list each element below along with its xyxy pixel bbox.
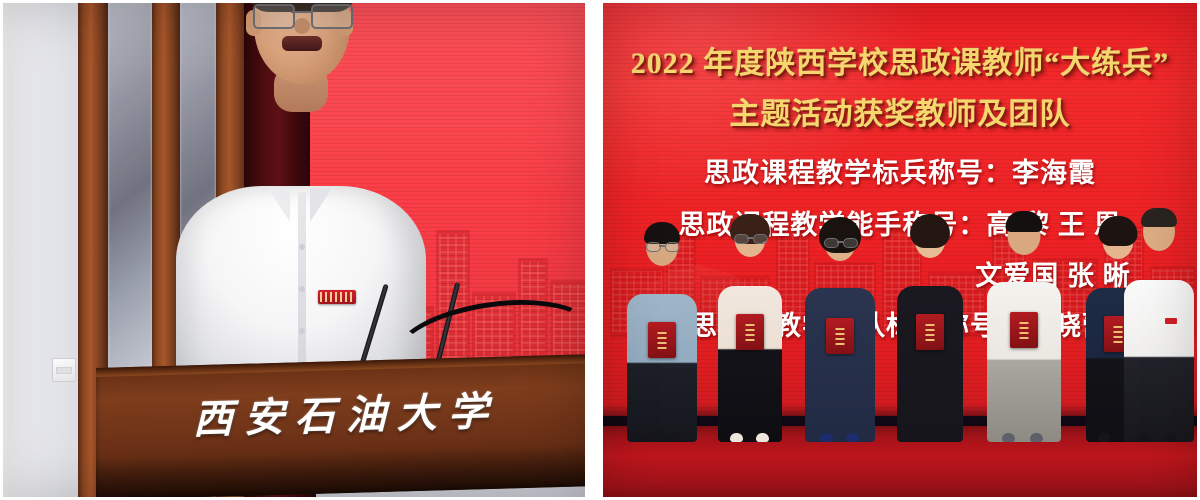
certificate — [648, 322, 676, 358]
light-switch-icon — [52, 358, 76, 382]
mouth — [282, 36, 322, 51]
award-recipient — [888, 214, 972, 442]
certificate — [916, 314, 944, 350]
speaker-figure — [176, 82, 426, 382]
backdrop-title-line-2: 主题活动获奖教师及团队 — [600, 89, 1200, 133]
right-photo-award-ceremony: 2022 年度陕西学校思政课教师“大练兵” 主题活动获奖教师及团队 思政课程教学… — [600, 0, 1200, 500]
photo-collage: 西安石油大学 — [0, 0, 1200, 500]
host-figure — [1116, 208, 1200, 442]
collage-gutter — [588, 0, 600, 500]
lapel-badge — [1165, 318, 1177, 324]
backdrop-title-line-1: 2022 年度陕西学校思政课教师“大练兵” — [600, 38, 1200, 82]
award-names: 李海霞 — [1012, 158, 1096, 188]
certificate — [736, 314, 764, 350]
award-line-1: 思政课程教学标兵称号：李海霞 — [600, 151, 1200, 190]
award-recipient — [620, 220, 704, 442]
award-recipient — [708, 214, 792, 442]
lapel-badge — [318, 290, 356, 304]
speaker-shirt — [176, 186, 426, 382]
award-recipients-row — [600, 192, 1200, 442]
certificate — [826, 318, 854, 354]
left-photo-speaker: 西安石油大学 — [0, 0, 588, 500]
nose — [294, 18, 310, 34]
award-label: 思政课程教学标兵称号： — [704, 158, 1012, 188]
award-recipient — [796, 216, 884, 442]
award-recipient — [978, 210, 1070, 442]
lectern: 西安石油大学 — [96, 354, 588, 500]
podium-inscription: 西安石油大学 — [96, 376, 588, 448]
certificate — [1010, 312, 1038, 348]
